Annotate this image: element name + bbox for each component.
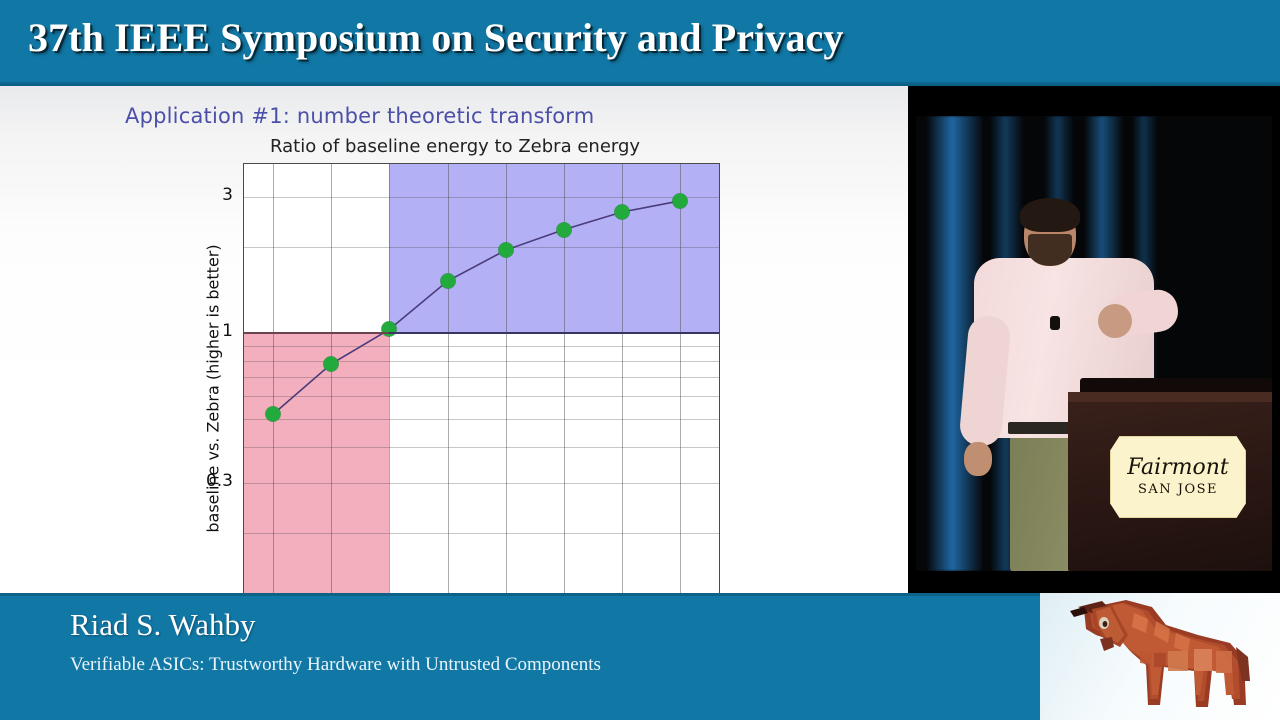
data-point: [673, 193, 688, 208]
data-point: [440, 274, 455, 289]
y-tick: [243, 396, 244, 397]
y-tick: [243, 247, 244, 248]
data-point: [498, 243, 513, 258]
venue-city: SAN JOSE: [1138, 482, 1218, 497]
slide-area: Application #1: number theoretic transfo…: [0, 86, 908, 593]
speaker-left-hand: [964, 442, 992, 476]
boundary-pink-top: [244, 332, 389, 334]
y-tick: [719, 419, 720, 420]
boundary-ratio-one: [389, 332, 720, 334]
y-tick: [243, 533, 244, 534]
data-point: [324, 356, 339, 371]
y-tick: [719, 483, 720, 485]
y-tick: [243, 447, 244, 448]
trojan-horse-logo-badge: [1040, 593, 1280, 720]
stage-scene: Fairmont SAN JOSE: [916, 116, 1272, 571]
lapel-microphone: [1050, 316, 1060, 330]
y-tick: [719, 377, 720, 378]
series-line: [244, 164, 720, 593]
speaker-hair: [1020, 198, 1080, 232]
conference-header-bar: 37th IEEE Symposium on Security and Priv…: [0, 0, 1280, 86]
y-axis-title: baseline vs. Zebra (higher is better): [204, 168, 223, 593]
chart-plot-area: 310.30.1678910111213 baseline vs. Zebra …: [0, 86, 908, 593]
venue-name: Fairmont: [1127, 457, 1229, 479]
podium-lip: [1068, 392, 1272, 402]
y-tick: [719, 361, 720, 362]
y-tick: [243, 377, 244, 378]
y-tick: [243, 483, 244, 485]
data-point: [266, 407, 281, 422]
plot-frame: [243, 163, 720, 593]
podium-venue-sign: Fairmont SAN JOSE: [1110, 436, 1246, 518]
talk-title: Verifiable ASICs: Trustworthy Hardware w…: [70, 650, 710, 679]
y-tick: [243, 197, 244, 199]
data-point: [615, 204, 630, 219]
y-tick: [719, 333, 720, 335]
y-tick: [243, 333, 244, 335]
data-point: [556, 222, 571, 237]
y-tick: [243, 346, 244, 347]
conference-title: 37th IEEE Symposium on Security and Priv…: [28, 14, 844, 61]
y-tick: [719, 447, 720, 448]
speaker-video-panel[interactable]: Fairmont SAN JOSE: [908, 86, 1280, 593]
speaker-beard: [1028, 234, 1072, 266]
y-tick: [243, 361, 244, 362]
footer-bar: Riad S. Wahby Verifiable ASICs: Trustwor…: [0, 593, 1280, 720]
y-tick: [243, 419, 244, 420]
trojan-horse-icon: [1048, 595, 1273, 717]
y-tick: [719, 197, 720, 198]
speaker-name: Riad S. Wahby: [70, 607, 256, 643]
y-tick: [719, 483, 720, 484]
y-tick: [719, 247, 720, 248]
y-tick: [719, 197, 720, 199]
y-tick: [719, 533, 720, 534]
y-tick: [719, 396, 720, 397]
data-point: [382, 322, 397, 337]
y-tick: [719, 346, 720, 347]
speaker-right-hand: [1098, 304, 1132, 338]
